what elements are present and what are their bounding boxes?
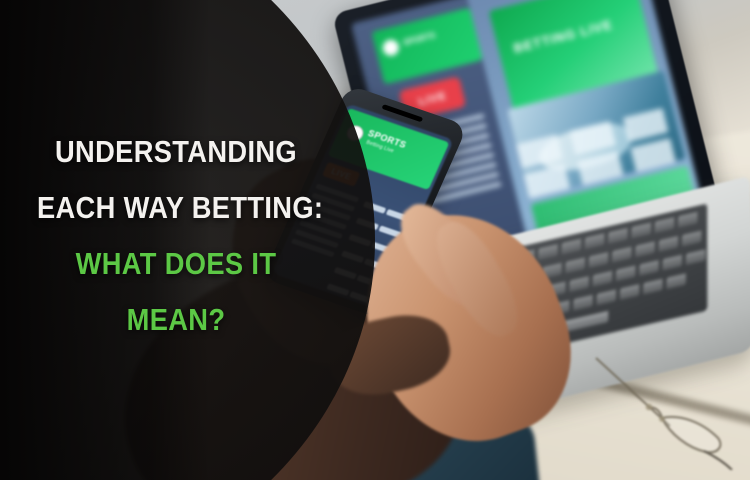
eyeglasses (592, 352, 742, 470)
laptop-section-title: BETTING LIVE (512, 16, 614, 55)
headline: Understanding Each Way Betting: What Doe… (18, 124, 334, 348)
laptop-brand-label: SPORTS (402, 31, 436, 48)
headline-line-2: Each Way Betting: (37, 180, 315, 236)
blog-header-banner: SPORTS BETTING LIVE LIVE (0, 0, 750, 480)
soccer-ball-icon (381, 38, 400, 57)
headline-line-1: Understanding (37, 124, 315, 180)
headline-line-4: Mean? (37, 292, 315, 348)
headline-line-3: What Does It (37, 236, 315, 292)
